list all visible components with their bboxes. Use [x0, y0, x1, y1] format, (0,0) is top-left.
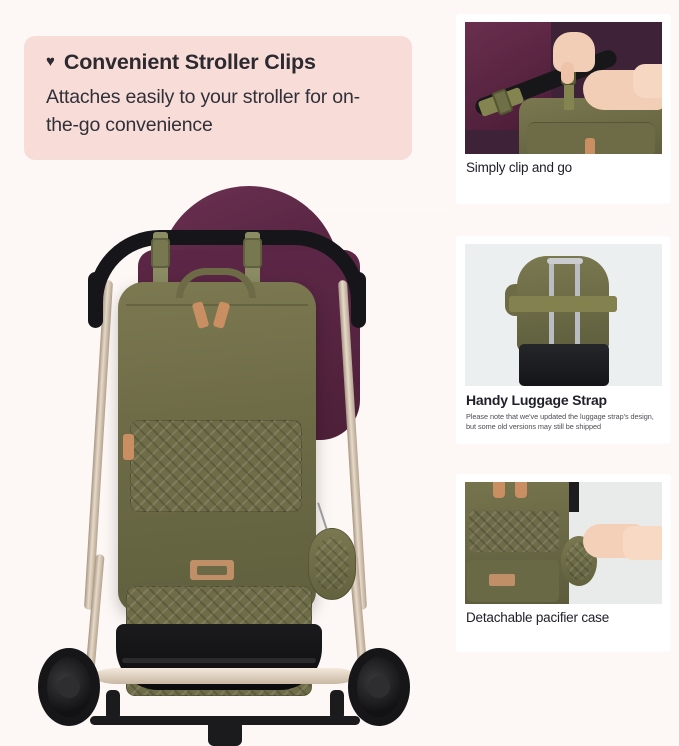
brand-metal-tag	[489, 574, 515, 586]
wheel-hub-right	[368, 676, 390, 698]
canopy-seam	[308, 208, 448, 210]
handlebar-grip-left	[88, 272, 103, 328]
product-feature-graphic: ♥ Convenient Stroller Clips Attaches eas…	[0, 0, 679, 679]
panel-note-luggage: Please note that we've updated the lugga…	[456, 409, 671, 433]
backpack-top-seam	[126, 304, 308, 306]
pacifier-case-weave	[315, 537, 349, 591]
panel-image-simply-clip-and-go	[465, 22, 662, 154]
panel-caption-luggage: Handy Luggage Strap	[456, 386, 671, 409]
wheel-hub-left	[58, 676, 80, 698]
scene-suitcase	[519, 344, 609, 386]
stroller-clip-buckle-right	[243, 238, 262, 268]
wheel-fork-left	[106, 690, 120, 720]
scene-luggage-strap	[509, 296, 617, 312]
panel-image-handy-luggage-strap	[465, 244, 662, 386]
zipper-pull-icon	[585, 138, 595, 154]
pacifier-case	[308, 528, 356, 600]
brand-metal-tag	[190, 560, 234, 580]
panel-image-detachable-pacifier-case	[465, 482, 662, 604]
stroller-center-joint	[208, 720, 242, 746]
zipper-pull-icon	[123, 434, 134, 460]
handlebar-grip-right	[351, 272, 366, 328]
basket-band	[122, 658, 316, 663]
zipper-pull-icon	[515, 482, 527, 498]
scene-woven-pocket	[469, 510, 559, 552]
zipper-pull-icon	[493, 482, 505, 498]
hero-product-image	[30, 172, 420, 672]
feature-panel-clip: Simply clip and go	[456, 14, 671, 204]
brand-metal-tag-inner	[197, 566, 227, 575]
scene-forearm	[633, 64, 662, 98]
heart-icon: ♥	[46, 54, 55, 69]
stroller-clip-buckle-left	[151, 238, 170, 268]
left-column: ♥ Convenient Stroller Clips Attaches eas…	[0, 0, 440, 679]
scene-finger	[561, 62, 574, 84]
scene-forearm	[623, 526, 662, 560]
feature-title: Convenient Stroller Clips	[64, 50, 316, 75]
feature-callout-card: ♥ Convenient Stroller Clips Attaches eas…	[24, 36, 412, 160]
feature-subtitle: Attaches easily to your stroller for on-…	[46, 84, 390, 139]
feature-panel-pacifier: Detachable pacifier case	[456, 474, 671, 652]
scene-hand-upper	[553, 32, 595, 72]
right-column: Simply clip and go Handy Luggage Strap P…	[448, 0, 679, 679]
panel-caption-clip: Simply clip and go	[456, 154, 671, 176]
feature-panel-luggage: Handy Luggage Strap Please note that we'…	[456, 236, 671, 444]
panel-caption-pacifier: Detachable pacifier case	[456, 604, 671, 626]
scene-suitcase-handle-grip	[547, 258, 583, 264]
feature-callout-header: ♥ Convenient Stroller Clips	[46, 50, 390, 75]
wheel-fork-right	[330, 690, 344, 720]
stroller-frame-crossbar	[94, 668, 356, 684]
backpack-woven-front-pocket	[130, 420, 302, 512]
